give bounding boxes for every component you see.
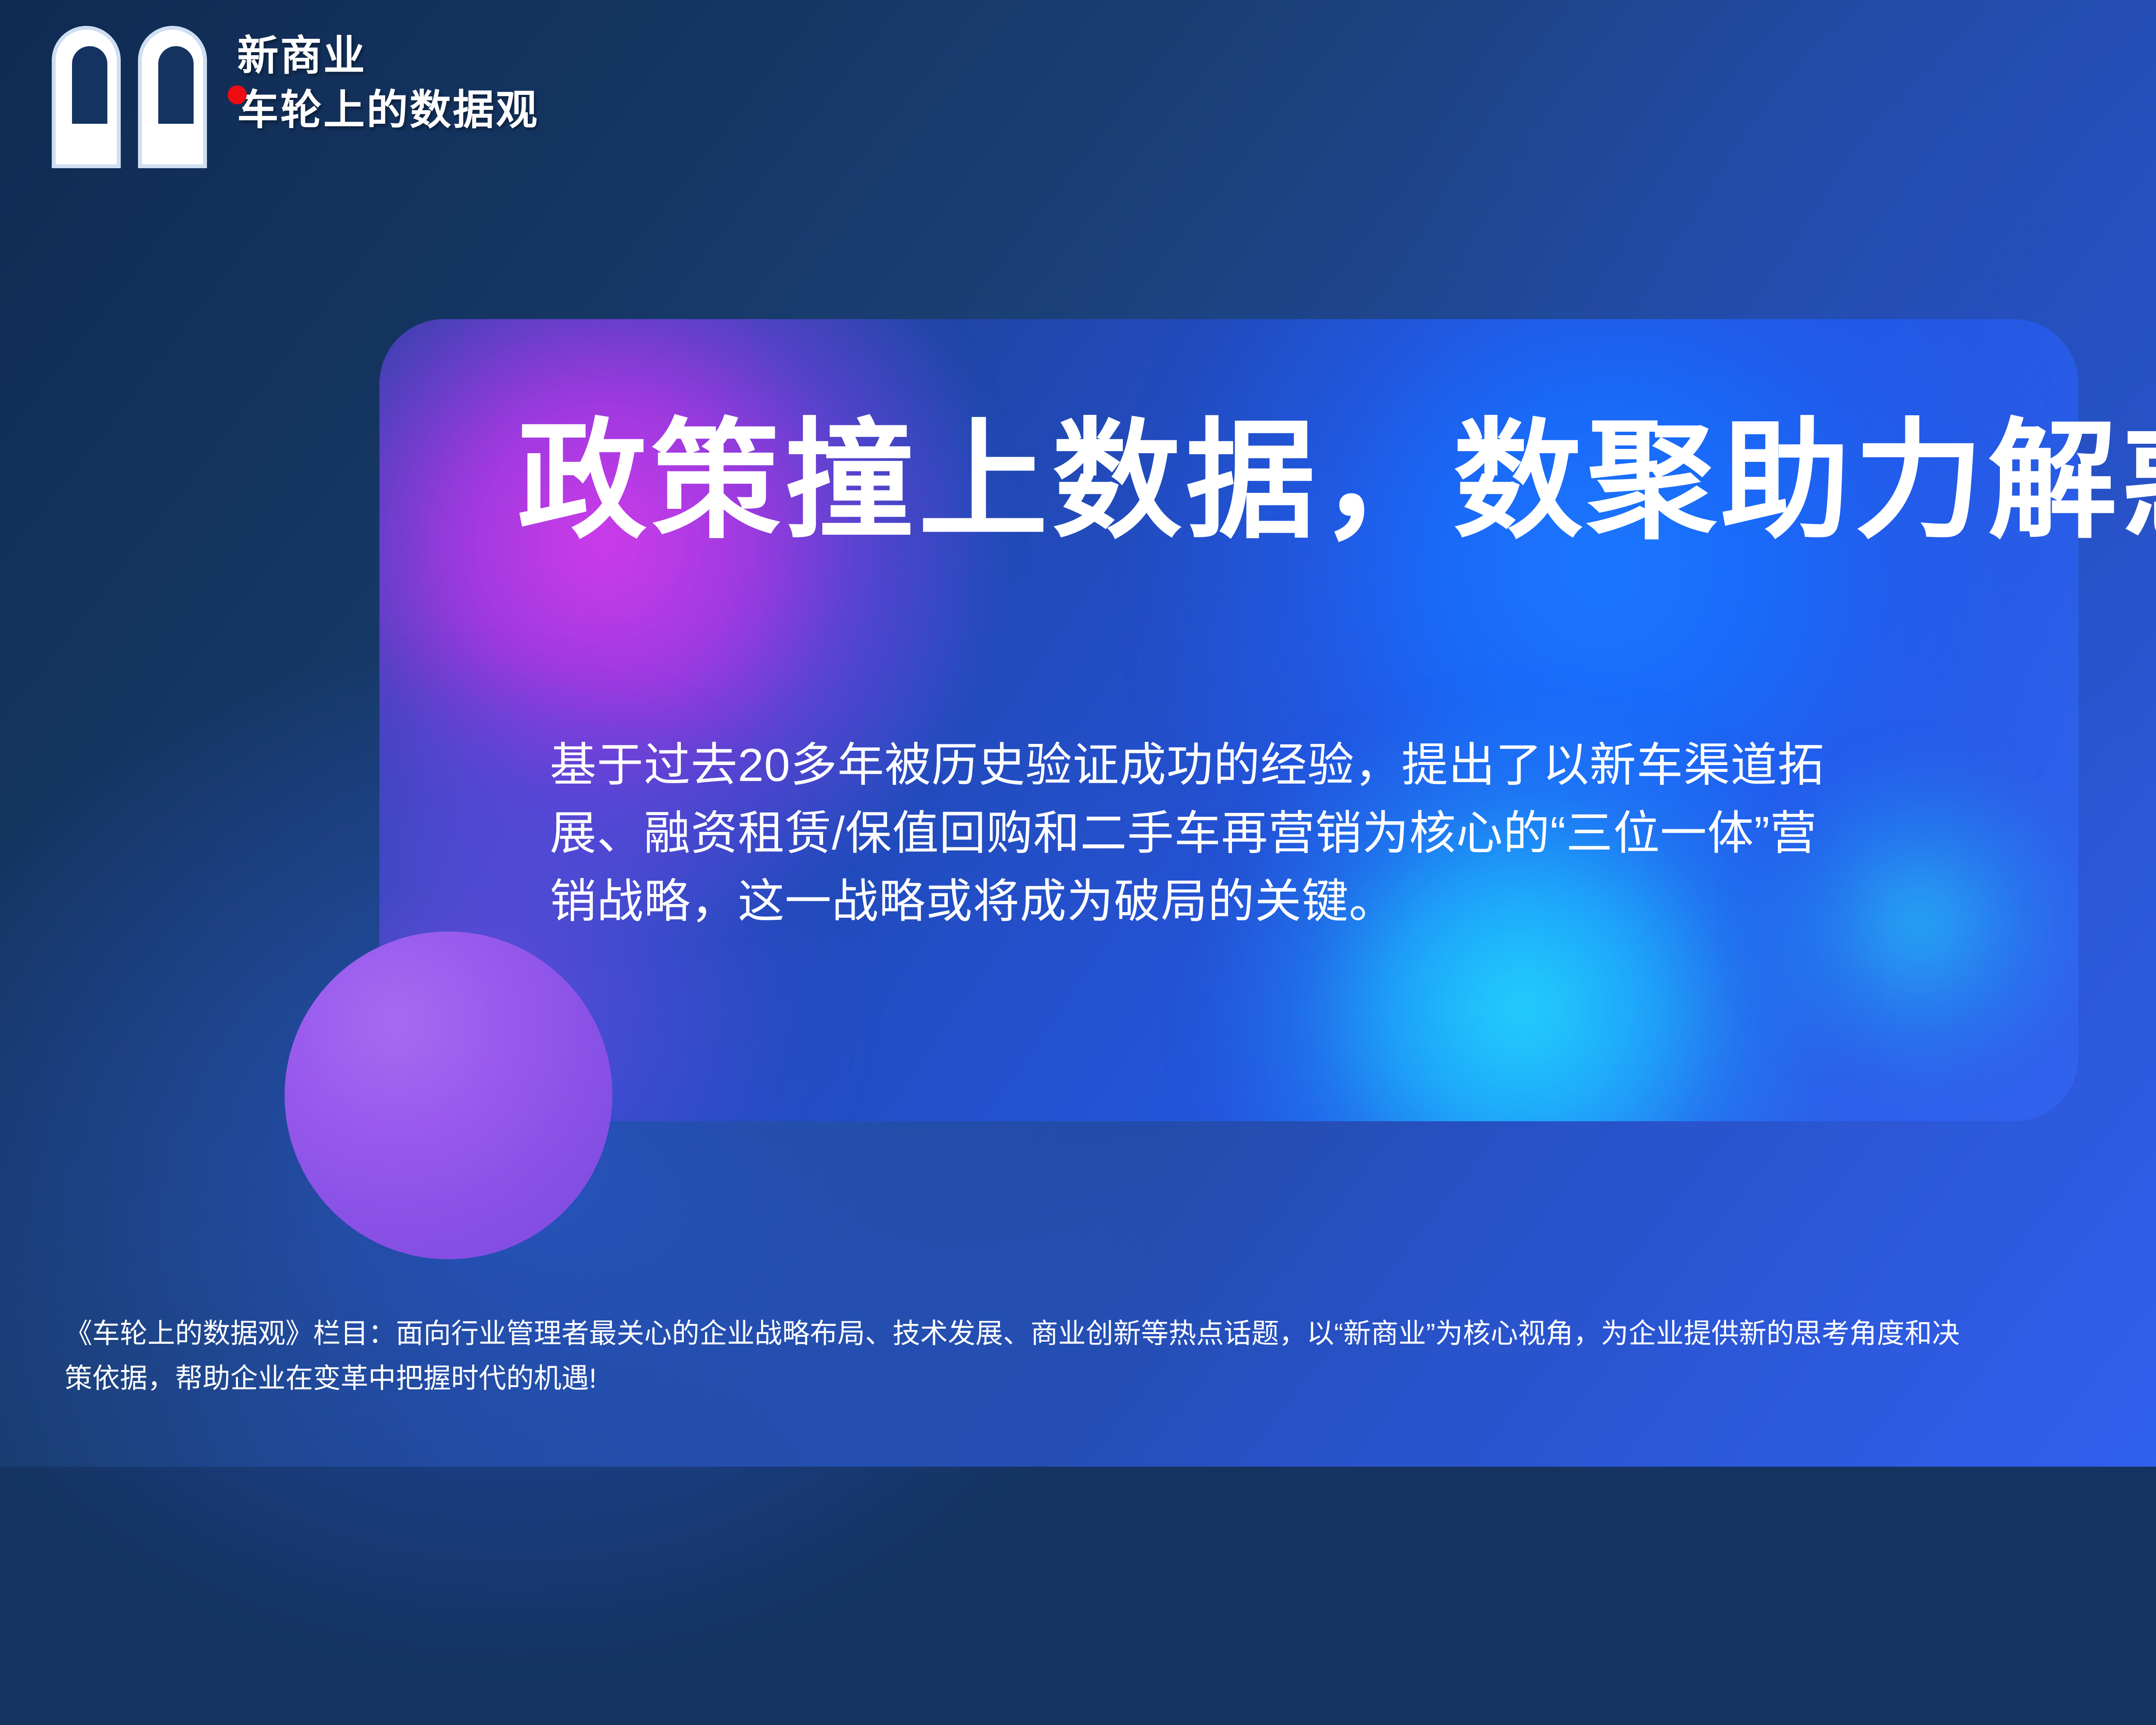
footer-description: 《车轮上的数据观》栏目：面向行业管理者最关心的企业战略布局、技术发展、商业创新等… — [65, 1311, 2156, 1401]
card-content: 政策撞上数据，数聚助力解惑 基于过去20多年被历史验证成功的经验，提出了以新车渠… — [379, 319, 2078, 1121]
card-body-text: 基于过去20多年被历史验证成功的经验，提出了以新车渠道拓 展、融资租赁/保值回购… — [550, 731, 1899, 935]
brand-logo-text: 新商业 车轮上的数据观 — [237, 26, 539, 133]
body-line: 销战略，这一战略或将成为破局的关键。 — [550, 867, 1899, 935]
page-title: 政策撞上数据，数聚助力解惑 — [517, 412, 2156, 550]
body-line: 基于过去20多年被历史验证成功的经验，提出了以新车渠道拓 — [550, 731, 1899, 799]
brand-logo: 新商业 车轮上的数据观 — [52, 26, 539, 168]
body-line: 展、融资租赁/保值回购和二手车再营销为核心的“三位一体”营 — [550, 799, 1899, 867]
double-quote-icon — [52, 26, 220, 168]
brand-name: 新商业 — [237, 34, 539, 78]
footer-line: 策依据，帮助企业在变革中把握时代的机遇! — [65, 1356, 2156, 1401]
quote-stroke-left — [52, 26, 121, 168]
brand-subtitle: 车轮上的数据观 — [237, 88, 539, 133]
brand-accent-dot — [228, 85, 247, 104]
quote-stroke-right — [138, 26, 207, 168]
footer-line: 《车轮上的数据观》栏目：面向行业管理者最关心的企业战略布局、技术发展、商业创新等… — [65, 1311, 2156, 1356]
